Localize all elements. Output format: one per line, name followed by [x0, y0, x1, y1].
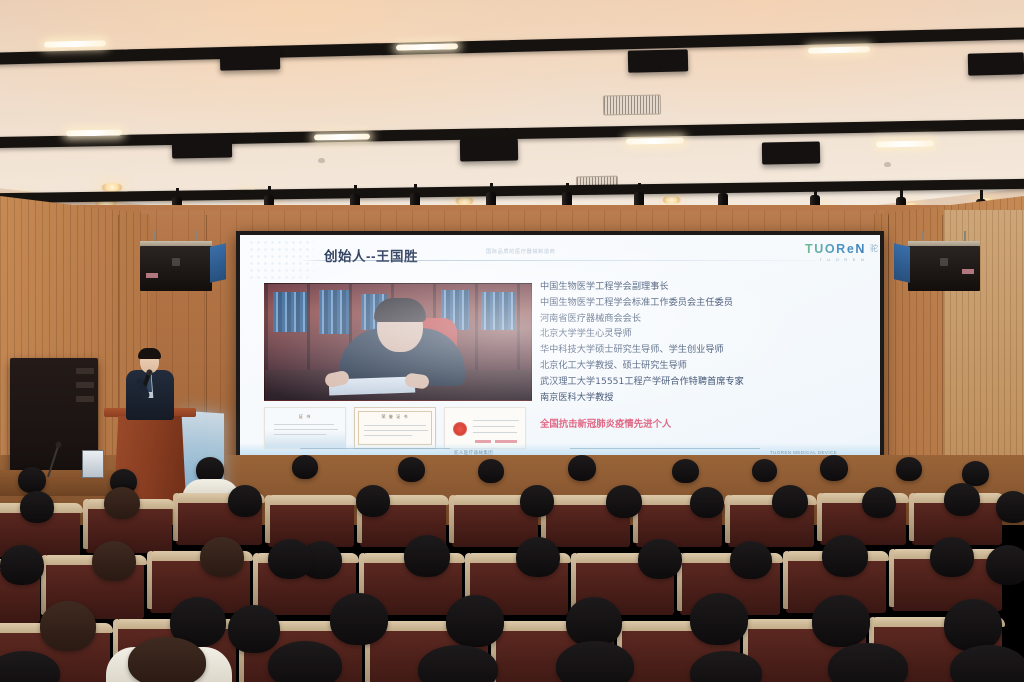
smoke-detector	[318, 158, 325, 163]
audience-head	[944, 599, 1002, 651]
audience-head	[268, 641, 342, 682]
track-light-housing	[220, 47, 281, 70]
audience-head	[752, 459, 777, 482]
audience-head	[862, 487, 896, 518]
audience-head	[772, 485, 808, 518]
wall-panel-seam	[888, 215, 889, 465]
logo-wordmark: TUOReN	[805, 243, 866, 256]
credential-line: 河南省医疗器械商会会长	[540, 311, 840, 327]
official-seal-icon	[453, 422, 467, 436]
audience-head	[896, 457, 922, 481]
tuoren-logo: TUOReN T U O R E N	[805, 243, 866, 262]
audience-head	[128, 637, 206, 682]
credential-line: 南京医科大学教授	[540, 390, 840, 406]
photo-color-tint	[265, 284, 531, 400]
track-light-housing	[968, 52, 1024, 75]
led-strip-light	[314, 134, 370, 141]
audience-head	[930, 537, 974, 577]
audience-head	[820, 455, 848, 481]
wall-speaker-right	[908, 241, 980, 291]
audience-head	[228, 605, 280, 653]
audience-head	[962, 461, 989, 486]
audience-head	[730, 541, 772, 579]
audience-head	[92, 541, 136, 581]
presenter-hair	[138, 348, 161, 359]
decorative-dot-pattern	[248, 239, 314, 283]
audience-head	[822, 535, 868, 577]
logo-subtext: T U O R E N	[805, 258, 866, 262]
audience-head	[40, 601, 96, 651]
credential-line: 北京化工大学教授、硕士研究生导师	[540, 358, 840, 374]
track-light-housing	[628, 49, 689, 72]
certificate-caption: 荣 誉 证 书	[381, 414, 408, 420]
credential-line: 武汉理工大学15551工程产学研合作特聘首席专家	[540, 374, 840, 390]
audience-head	[690, 593, 748, 645]
audience-head	[404, 535, 450, 577]
track-light-housing	[460, 138, 518, 161]
audience-head	[996, 491, 1024, 523]
audience-head	[606, 485, 642, 518]
track-light-housing	[762, 141, 820, 164]
audience-head	[20, 491, 54, 523]
audience-head	[268, 539, 312, 579]
audience-head	[566, 597, 622, 647]
wall-speaker-left	[140, 241, 212, 291]
logo-cn-character: 驼	[870, 243, 878, 254]
credential-line: 华中科技大学硕士研究生导师、学生创业导师	[540, 342, 840, 358]
slide-tagline: 国际品质的医疗器械制造商	[486, 248, 555, 255]
led-strip-light	[876, 140, 934, 147]
audience-head	[292, 455, 318, 479]
led-strip-light	[66, 130, 122, 137]
audience-head	[398, 457, 425, 482]
audience-head	[672, 459, 699, 483]
audience-head	[944, 483, 980, 516]
led-strip-light	[626, 137, 684, 144]
audience-head	[18, 467, 46, 493]
certificate-caption: 证 书	[299, 414, 312, 420]
audience-head	[0, 545, 44, 585]
audience-head	[520, 485, 554, 517]
seated-audience	[0, 455, 1024, 682]
audience-head	[812, 595, 870, 647]
audience-head	[200, 537, 244, 577]
audience-head	[516, 537, 560, 577]
audience-head	[330, 593, 388, 645]
credential-line: 北京大学学生心灵导师	[540, 326, 840, 342]
slide-title: 创始人--王国胜	[324, 245, 418, 265]
credential-line: 中国生物医学工程学会副理事长	[540, 279, 840, 295]
projection-screen-frame: 创始人--王国胜 国际品质的医疗器械制造商 TUOReN T U O R E N…	[236, 231, 884, 473]
audience-head	[478, 459, 504, 483]
audience-head	[638, 539, 682, 579]
audience-head	[356, 485, 390, 517]
downlight	[662, 196, 681, 204]
track-light-housing	[172, 135, 232, 158]
founder-credentials-list: 中国生物医学工程学会副理事长 中国生物医学工程学会标准工作委员会主任委员 河南省…	[540, 279, 840, 406]
award-highlight-text: 全国抗击新冠肺炎疫情先进个人	[540, 416, 671, 430]
credential-line: 中国生物医学工程学会标准工作委员会主任委员	[540, 295, 840, 311]
presentation-slide: 创始人--王国胜 国际品质的医疗器械制造商 TUOReN T U O R E N…	[240, 235, 880, 469]
founder-portrait-photo	[264, 283, 532, 401]
audience-head	[986, 545, 1024, 585]
audience-head	[228, 485, 262, 517]
downlight	[455, 197, 474, 205]
presenter-at-podium	[118, 348, 182, 420]
audience-head	[446, 595, 504, 647]
audience-head	[690, 487, 724, 518]
ceiling-air-vent	[603, 94, 661, 115]
audience-head	[568, 455, 596, 481]
smoke-detector	[884, 162, 891, 167]
lecture-hall-scene: 创始人--王国胜 国际品质的医疗器械制造商 TUOReN T U O R E N…	[0, 0, 1024, 682]
audience-head	[104, 487, 140, 519]
